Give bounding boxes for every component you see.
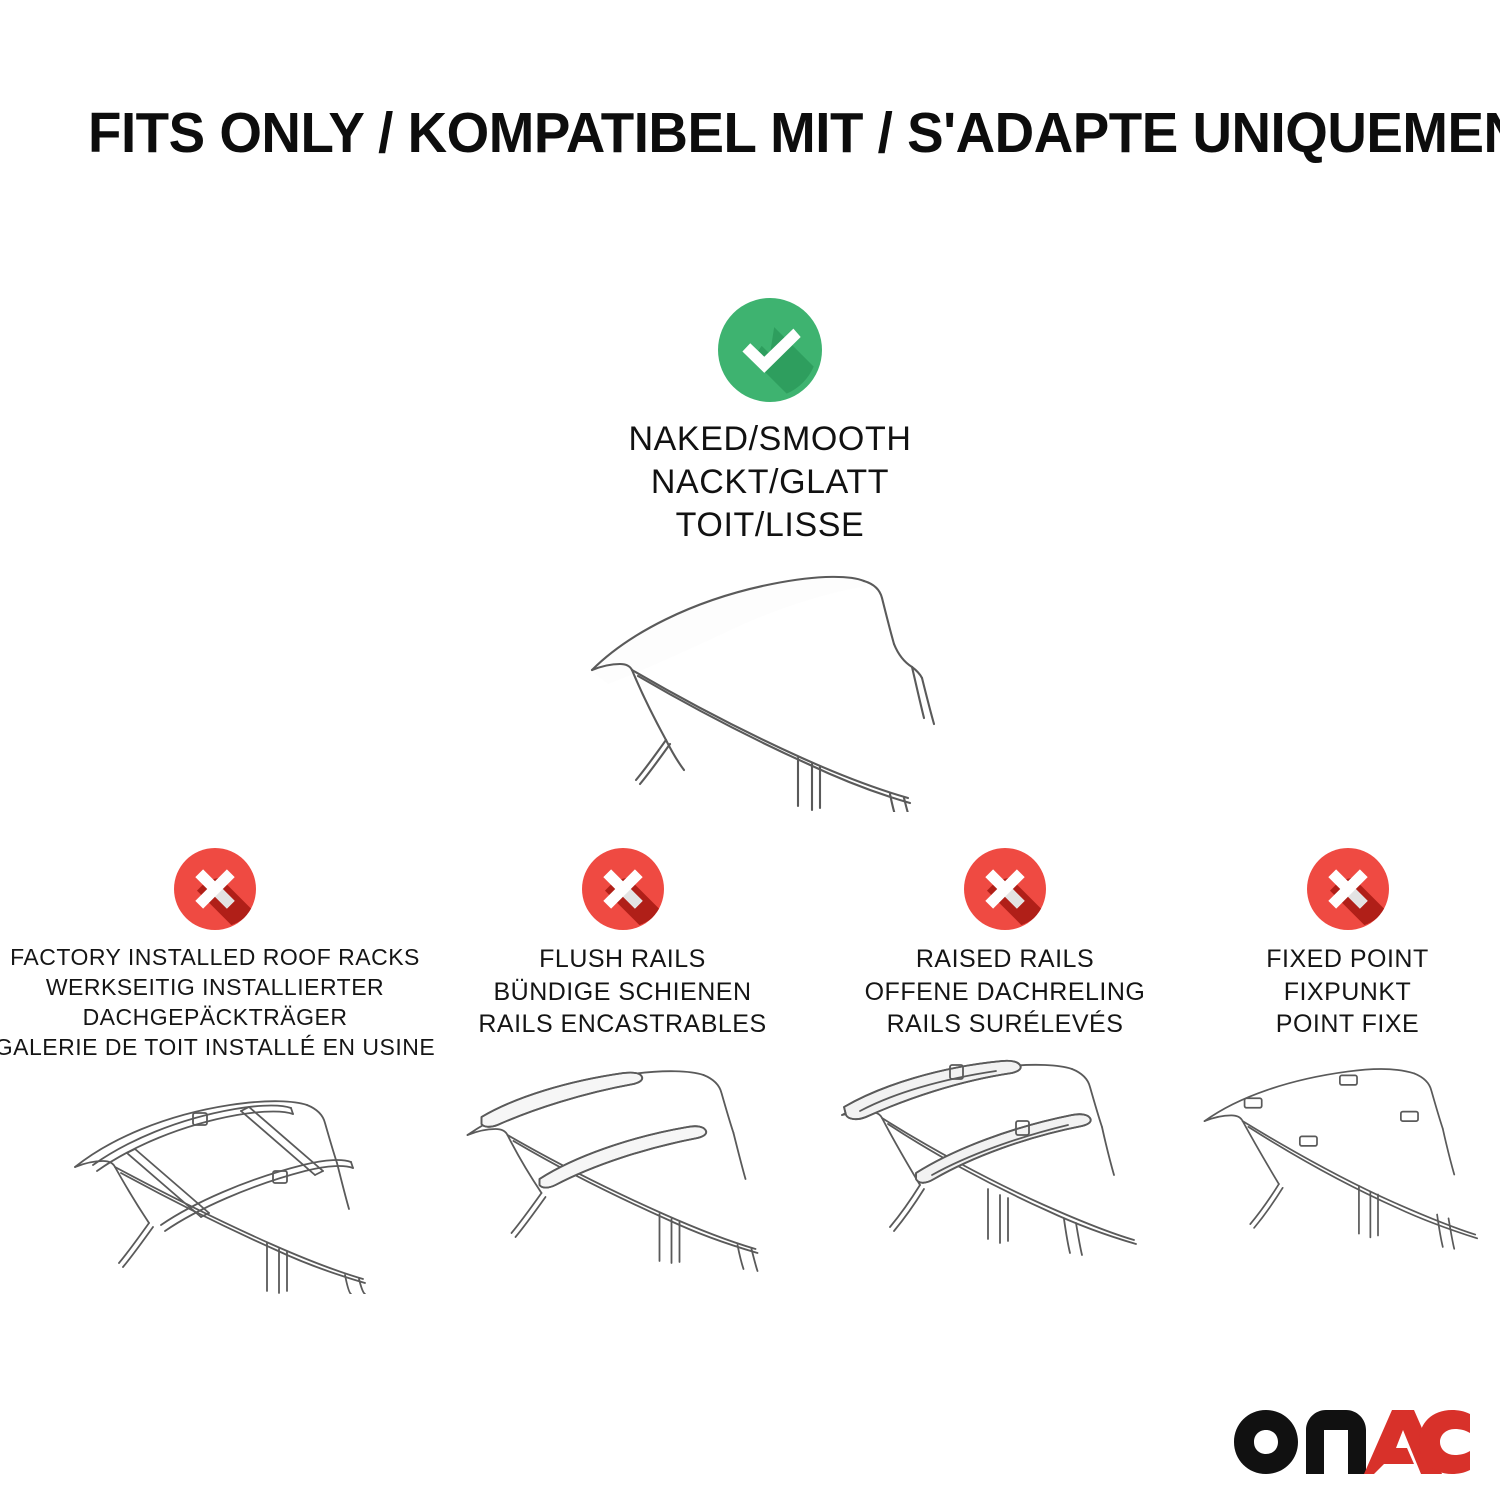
logo-letter-m [1306,1410,1366,1474]
option-line-4: GALERIE DE TOIT INSTALLÉ EN USINE [0,1033,435,1063]
check-circle-icon [718,298,822,402]
compatible-line-2: NACKT/GLATT [628,461,911,504]
option-line-1: RAISED RAILS [865,943,1146,976]
compatible-line-1: NAKED/SMOOTH [628,418,911,461]
car-roof-naked-smooth-illustration [530,562,1010,812]
option-factory-installed-roof-racks: FACTORY INSTALLED ROOF RACKS WERKSEITIG … [0,848,430,1294]
car-roof-factory-rack-illustration [0,1079,430,1294]
option-line-1: FLUSH RAILS [478,943,766,976]
option-line-2: WERKSEITIG INSTALLIERTER [0,973,435,1003]
compatible-section: NAKED/SMOOTH NACKT/GLATT TOIT/LISSE [520,298,1020,812]
cross-circle-icon [964,848,1046,930]
option-line-1: FIXED POINT [1266,943,1428,976]
car-roof-flush-rails-illustration [430,1057,815,1272]
option-flush-rails: FLUSH RAILS BÜNDIGE SCHIENEN RAILS ENCAS… [430,848,815,1294]
compatible-line-3: TOIT/LISSE [628,504,911,547]
compatible-caption: NAKED/SMOOTH NACKT/GLATT TOIT/LISSE [628,418,911,546]
option-caption: FIXED POINT FIXPUNKT POINT FIXE [1266,943,1428,1041]
option-line-3: DACHGEPÄCKTRÄGER [0,1003,435,1033]
option-line-3: RAILS SURÉLEVÉS [865,1008,1146,1041]
option-raised-rails: RAISED RAILS OFFENE DACHRELING RAILS SUR… [815,848,1195,1294]
option-fixed-point: FIXED POINT FIXPUNKT POINT FIXE [1195,848,1500,1294]
option-caption: RAISED RAILS OFFENE DACHRELING RAILS SUR… [865,943,1146,1041]
option-line-3: POINT FIXE [1266,1008,1428,1041]
option-line-3: RAILS ENCASTRABLES [478,1008,766,1041]
option-caption: FACTORY INSTALLED ROOF RACKS WERKSEITIG … [0,943,435,1063]
cross-circle-icon [582,848,664,930]
incompatible-section: FACTORY INSTALLED ROOF RACKS WERKSEITIG … [0,848,1500,1294]
option-caption: FLUSH RAILS BÜNDIGE SCHIENEN RAILS ENCAS… [478,943,766,1041]
omac-logo [1232,1408,1472,1478]
logo-letter-o [1234,1410,1298,1474]
page-title: FITS ONLY / KOMPATIBEL MIT / S'ADAPTE UN… [88,104,1374,164]
option-line-2: OFFENE DACHRELING [865,976,1146,1009]
cross-circle-icon [1307,848,1389,930]
car-roof-fixed-point-illustration [1195,1057,1500,1272]
option-line-2: BÜNDIGE SCHIENEN [478,976,766,1009]
option-line-1: FACTORY INSTALLED ROOF RACKS [0,943,435,973]
car-roof-raised-rails-illustration [815,1057,1195,1272]
option-line-2: FIXPUNKT [1266,976,1428,1009]
cross-circle-icon [174,848,256,930]
